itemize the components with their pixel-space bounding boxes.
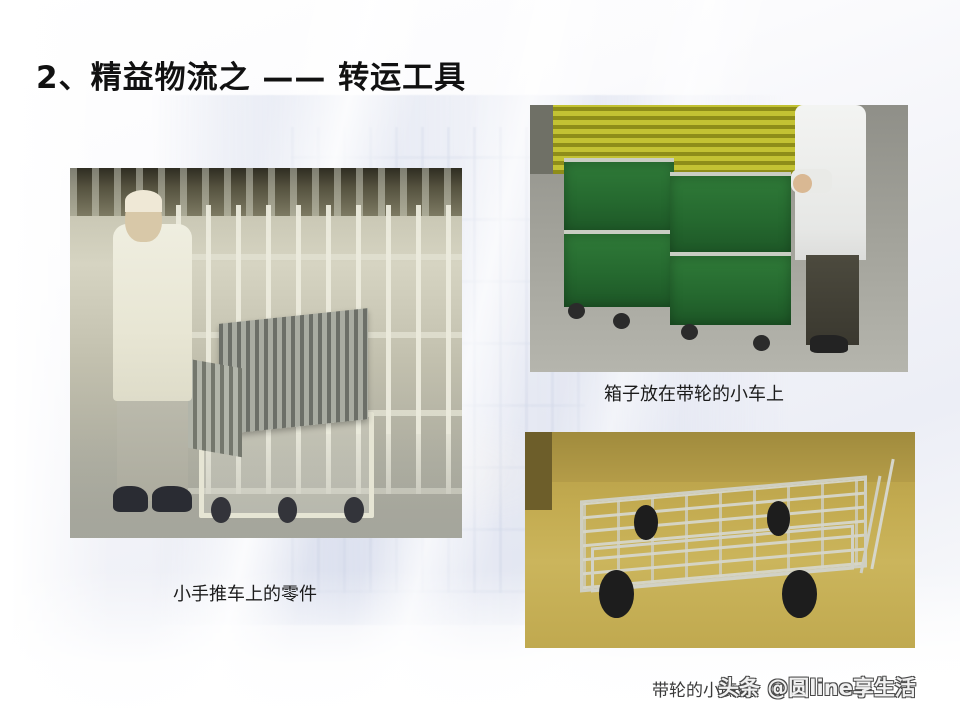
dolly-caster-rear-right (767, 501, 790, 536)
cart-caster-3 (344, 497, 364, 523)
photo-metal-dolly-content (525, 432, 915, 648)
watermark-text: 头条 @圆line享生活 (718, 672, 916, 702)
worker-shoe-left (113, 486, 148, 512)
photo-metal-dolly[interactable] (525, 432, 915, 648)
green-crate-4 (670, 252, 791, 325)
green-crate-2 (564, 230, 674, 306)
warehouse-wall (530, 105, 553, 174)
dolly-caster-3 (681, 324, 698, 340)
dolly-caster-rear-left (634, 505, 657, 540)
caption-green-boxes: 箱子放在带轮的小车上 (604, 380, 784, 406)
slide-canvas: 2、精益物流之 —— 转运工具 (0, 0, 960, 720)
photo-cart-parts[interactable] (70, 168, 462, 538)
photo-cart-parts-content (70, 168, 462, 538)
dolly-caster-1 (568, 303, 585, 319)
photo-green-boxes-content (530, 105, 908, 372)
worker-torso (113, 224, 191, 402)
worker-trousers (806, 255, 859, 346)
back-wall (525, 432, 915, 482)
green-crate-3 (670, 172, 791, 256)
photo-green-boxes[interactable] (530, 105, 908, 372)
worker-hair (125, 190, 162, 212)
wall-shadow (525, 432, 552, 510)
worker-shoe-right (152, 486, 191, 512)
green-crate-1 (564, 158, 674, 234)
worker-shoe (810, 335, 848, 354)
cart-caster-1 (211, 497, 231, 523)
dolly-caster-front-left (599, 570, 634, 618)
dolly-caster-4 (753, 335, 770, 351)
caption-cart-parts: 小手推车上的零件 (173, 580, 317, 606)
slide-title: 2、精益物流之 —— 转运工具 (36, 52, 466, 97)
worker-hand (793, 174, 812, 193)
